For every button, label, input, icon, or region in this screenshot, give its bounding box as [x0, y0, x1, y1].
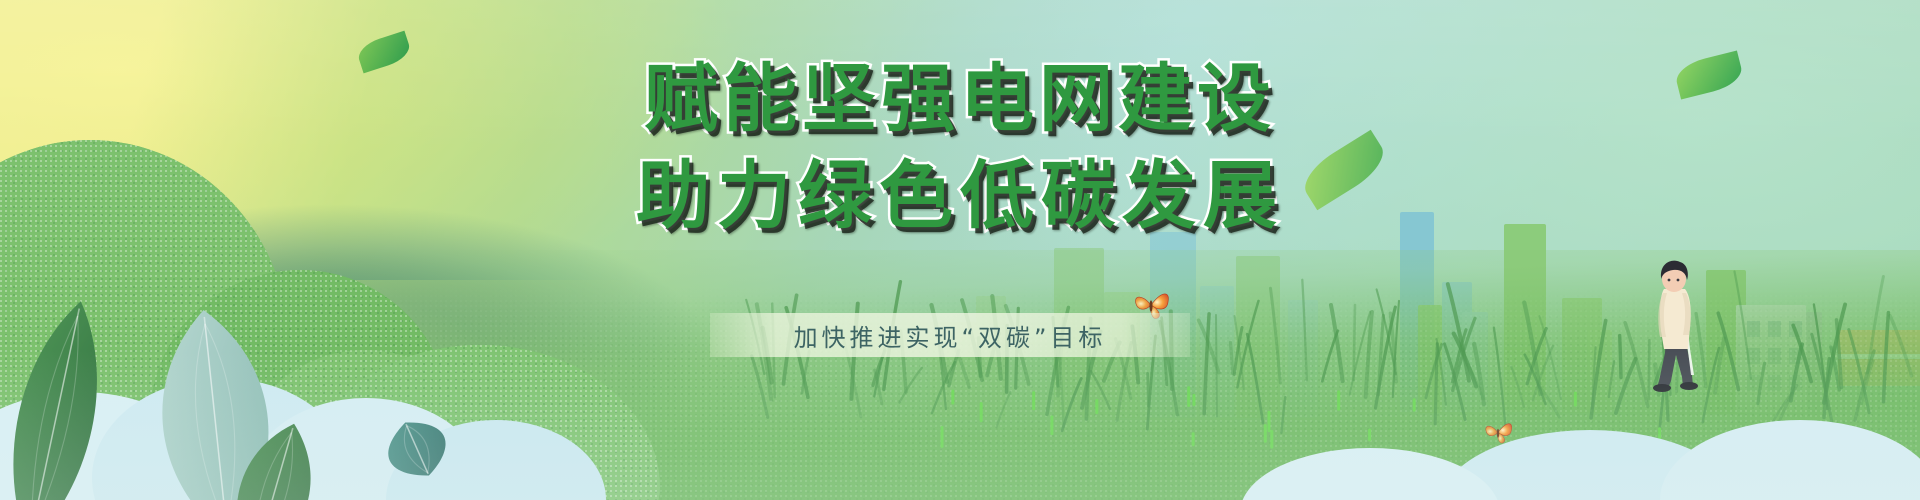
person-shoe-left — [1653, 384, 1671, 392]
grass-blade — [1302, 280, 1307, 381]
grass-blade — [1539, 316, 1561, 399]
grass-blade — [1884, 313, 1889, 402]
grass-blade — [1890, 316, 1912, 376]
person-eye-right — [1677, 279, 1680, 282]
grass-blade — [1494, 328, 1506, 429]
grass-blade — [1758, 363, 1765, 403]
grass-blade — [1062, 378, 1081, 430]
walking-person — [1638, 255, 1708, 395]
grass-blade — [1216, 315, 1217, 416]
grass-blade — [1616, 359, 1636, 413]
grass-blade — [1715, 338, 1724, 392]
grass-blade — [1281, 397, 1285, 433]
grass-blade — [1247, 334, 1263, 423]
headline-block: 赋能坚强电网建设 助力绿色低碳发展 — [0, 58, 1920, 238]
grass-blade — [1435, 344, 1437, 424]
headline-line-2: 助力绿色低碳发展 — [0, 155, 1920, 238]
grass-blade — [1271, 288, 1281, 383]
grass-blade — [1609, 361, 1614, 397]
eco-power-banner: 赋能坚强电网建设 助力绿色低碳发展 加快推进实现“双碳”目标 — [0, 0, 1920, 500]
grass-blade — [1814, 304, 1828, 409]
person-eye-left — [1668, 279, 1671, 282]
grass-blade — [1868, 277, 1884, 373]
person-shoe-right — [1680, 382, 1698, 390]
grass-blade — [1231, 343, 1233, 374]
subtitle-text: 加快推进实现“双碳”目标 — [710, 313, 1190, 357]
grass-blade — [1511, 367, 1524, 407]
grass-blade — [1204, 314, 1209, 414]
grass-blade — [1620, 336, 1621, 378]
leaf-dark-left — [0, 293, 117, 500]
leaf-stem-right — [378, 410, 456, 487]
butterfly-grass — [1483, 419, 1513, 445]
grass-blade — [1735, 272, 1752, 379]
grass-blade — [997, 392, 1011, 427]
headline-line-1: 赋能坚强电网建设 — [0, 58, 1920, 141]
